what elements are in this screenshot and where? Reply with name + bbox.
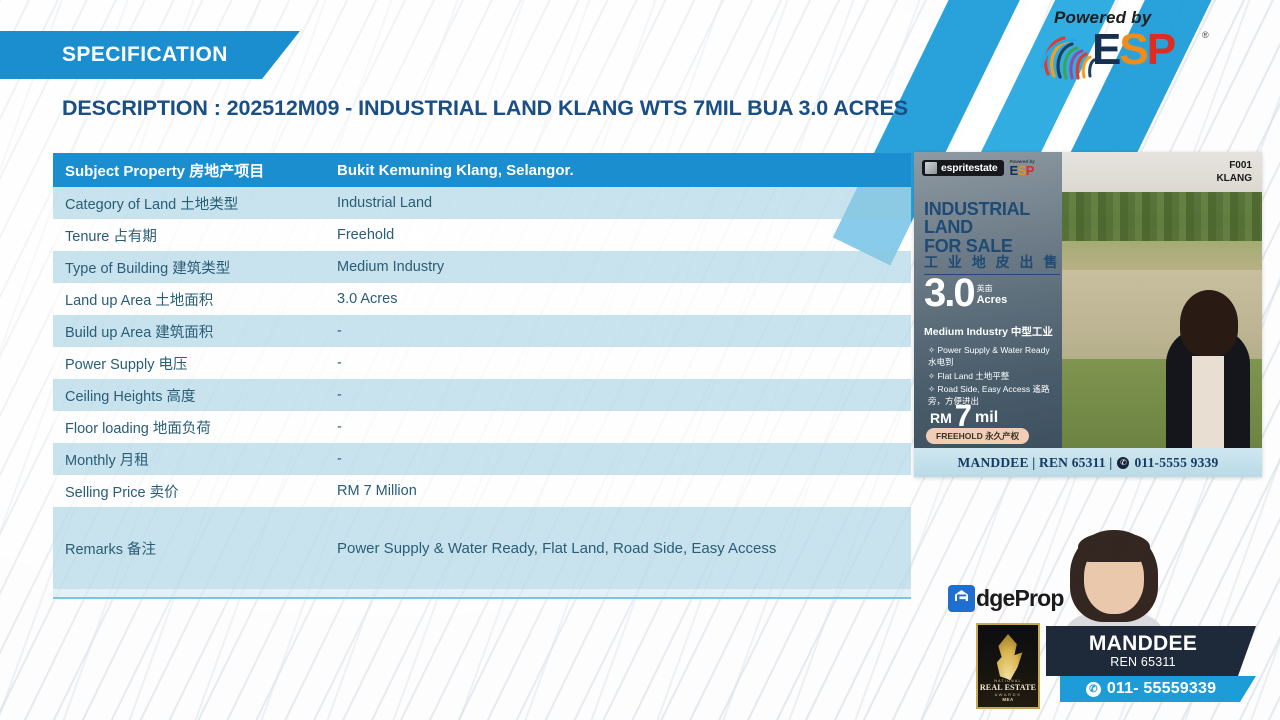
flyer-acreage: 3.0 英亩 Acres xyxy=(924,276,1007,310)
remarks-label: Remarks 备注 xyxy=(65,538,337,559)
espritestate-wordmark: espritestate xyxy=(941,162,998,174)
row-label: Ceiling Heights 高度 xyxy=(65,385,337,406)
flyer-headline-line2: LAND xyxy=(924,218,1030,236)
edgeprop-logo[interactable]: E dgeProp xyxy=(948,585,1064,612)
photo-treeline xyxy=(1062,188,1262,241)
row-label: Land up Area 土地面积 xyxy=(65,289,337,310)
agent-phone-number: 011- 55559339 xyxy=(1107,680,1216,698)
row-value: Medium Industry xyxy=(337,259,911,275)
row-value: RM 7 Million xyxy=(337,483,911,499)
row-value: - xyxy=(337,451,911,467)
flyer-agent-photo xyxy=(1160,263,1256,448)
flyer-headline-line1: INDUSTRIAL xyxy=(924,200,1030,218)
row-value: - xyxy=(337,355,911,371)
acreage-unit-cn: 英亩 xyxy=(977,283,1008,294)
flyer-listing-code: F001 KLANG xyxy=(1216,160,1252,185)
table-row: Selling Price 卖价 RM 7 Million xyxy=(53,475,911,507)
edgeprop-house-icon: E xyxy=(948,585,975,612)
table-row: Category of Land 土地类型 Industrial Land xyxy=(53,187,911,219)
powered-by-esp-logo: Powered by ESP ® xyxy=(1036,8,1226,88)
listing-code-line1: F001 xyxy=(1216,160,1252,173)
flyer-building-type: Medium Industry 中型工业 xyxy=(924,324,1053,339)
flyer-agent-name: MANDDEE | REN 65311 | xyxy=(958,455,1113,471)
flame-icon xyxy=(988,634,1028,680)
row-value: Industrial Land xyxy=(337,195,911,211)
row-label: Selling Price 卖价 xyxy=(65,481,337,502)
table-row: Tenure 占有期 Freehold xyxy=(53,219,911,251)
row-label: Type of Building 建筑类型 xyxy=(65,257,337,278)
feature-item: ✧ Power Supply & Water Ready 水电到 xyxy=(928,344,1056,369)
price-amount: 7 xyxy=(955,404,972,429)
row-value: - xyxy=(337,419,911,435)
agent-name-plate: MANDDEE REN 65311 xyxy=(1046,626,1256,676)
price-currency: RM xyxy=(930,410,952,429)
flyer-feature-list: ✧ Power Supply & Water Ready 水电到 ✧ Flat … xyxy=(928,344,1056,409)
row-value: Freehold xyxy=(337,227,911,243)
row-label: Floor loading 地面负荷 xyxy=(65,417,337,438)
row-label: Build up Area 建筑面积 xyxy=(65,321,337,342)
specification-table: Subject Property 房地产项目 Bukit Kemuning Kl… xyxy=(53,153,911,599)
listing-code-line2: KLANG xyxy=(1216,173,1252,186)
table-row: Ceiling Heights 高度 - xyxy=(53,379,911,411)
flyer-esp-letter-s: S xyxy=(1018,163,1026,178)
esp-letter-p: P xyxy=(1147,25,1174,74)
page-title: DESCRIPTION : 202512M09 - INDUSTRIAL LAN… xyxy=(62,96,908,121)
flyer-esp-wordmark: ESP xyxy=(1010,164,1034,177)
acreage-unit-en: Acres xyxy=(977,294,1008,306)
row-label: Power Supply 电压 xyxy=(65,353,337,374)
table-row: Monthly 月租 - xyxy=(53,443,911,475)
agent-phone-plate[interactable]: ✆ 011- 55559339 xyxy=(1060,676,1256,702)
agent-name: MANDDEE xyxy=(1089,633,1197,655)
row-value: - xyxy=(337,323,911,339)
table-row: Build up Area 建筑面积 - xyxy=(53,315,911,347)
flyer-tenure-badge: FREEHOLD 永久产权 xyxy=(926,428,1029,444)
agent-ren-number: REN 65311 xyxy=(1110,655,1176,669)
award-line4: MEA xyxy=(1002,697,1013,702)
row-value: 3.0 Acres xyxy=(337,291,911,307)
agent-portrait-fringe xyxy=(1078,532,1150,562)
row-label: Tenure 占有期 xyxy=(65,225,337,246)
table-header-label: Subject Property 房地产项目 xyxy=(65,160,337,181)
price-unit: mil xyxy=(975,409,998,429)
flyer-phone-number: 011-5555 9339 xyxy=(1134,455,1218,471)
row-label: Monthly 月租 xyxy=(65,449,337,470)
acreage-unit: 英亩 Acres xyxy=(977,283,1008,310)
edgeprop-wordmark: dgeProp xyxy=(976,585,1064,612)
flyer-land-photo xyxy=(1062,152,1262,448)
table-header-row: Subject Property 房地产项目 Bukit Kemuning Kl… xyxy=(53,153,911,187)
table-row: Land up Area 土地面积 3.0 Acres xyxy=(53,283,911,315)
specification-banner-label: SPECIFICATION xyxy=(62,43,228,67)
award-line2: REAL ESTATE xyxy=(980,683,1036,692)
table-row: Type of Building 建筑类型 Medium Industry xyxy=(53,251,911,283)
feature-item: ✧ Flat Land 土地平整 xyxy=(928,370,1056,382)
esp-registered-mark: ® xyxy=(1202,30,1209,40)
flyer-price: RM 7 mil xyxy=(930,404,998,429)
esp-wordmark: ESP xyxy=(1092,28,1174,72)
esp-letter-e: E xyxy=(1092,25,1119,74)
edgeprop-badge-letter: E xyxy=(956,591,967,611)
flyer-headline: INDUSTRIAL LAND FOR SALE xyxy=(924,200,1030,255)
flyer-esp-logo: Powered by ESP xyxy=(1010,159,1035,177)
table-row-remarks: Remarks 备注 Power Supply & Water Ready, F… xyxy=(53,507,911,589)
phone-icon: ✆ xyxy=(1086,682,1101,697)
agent-contact-banner: NATIONAL REAL ESTATE AWARDS MEA MANDDEE … xyxy=(968,620,1280,710)
real-estate-award-badge: NATIONAL REAL ESTATE AWARDS MEA xyxy=(976,623,1040,709)
flyer-brand-bar: espritestate Powered by ESP xyxy=(922,159,1035,177)
remarks-value: Power Supply & Water Ready, Flat Land, R… xyxy=(337,540,911,557)
flyer-esp-letter-e: E xyxy=(1010,163,1018,178)
table-row: Power Supply 电压 - xyxy=(53,347,911,379)
slide-canvas: SPECIFICATION DESCRIPTION : 202512M09 - … xyxy=(0,0,1280,720)
phone-icon: ✆ xyxy=(1117,457,1129,469)
esp-letter-s: S xyxy=(1119,25,1146,74)
property-flyer-card[interactable]: espritestate Powered by ESP F001 KLANG I… xyxy=(914,152,1262,477)
row-label: Category of Land 土地类型 xyxy=(65,193,337,214)
specification-banner: SPECIFICATION xyxy=(0,31,300,79)
building-icon xyxy=(925,162,937,174)
agent-blouse xyxy=(1192,356,1224,448)
agent-fringe xyxy=(1186,296,1232,320)
flyer-contact-bar: MANDDEE | REN 65311 | ✆ 011-5555 9339 xyxy=(914,448,1262,477)
table-header-value: Bukit Kemuning Klang, Selangor. xyxy=(337,162,911,179)
espritestate-logo: espritestate xyxy=(922,160,1004,176)
row-value: - xyxy=(337,387,911,403)
table-row: Floor loading 地面负荷 - xyxy=(53,411,911,443)
acreage-value: 3.0 xyxy=(924,276,974,310)
flyer-esp-letter-p: P xyxy=(1026,163,1034,178)
table-bottom-rule xyxy=(53,589,911,599)
